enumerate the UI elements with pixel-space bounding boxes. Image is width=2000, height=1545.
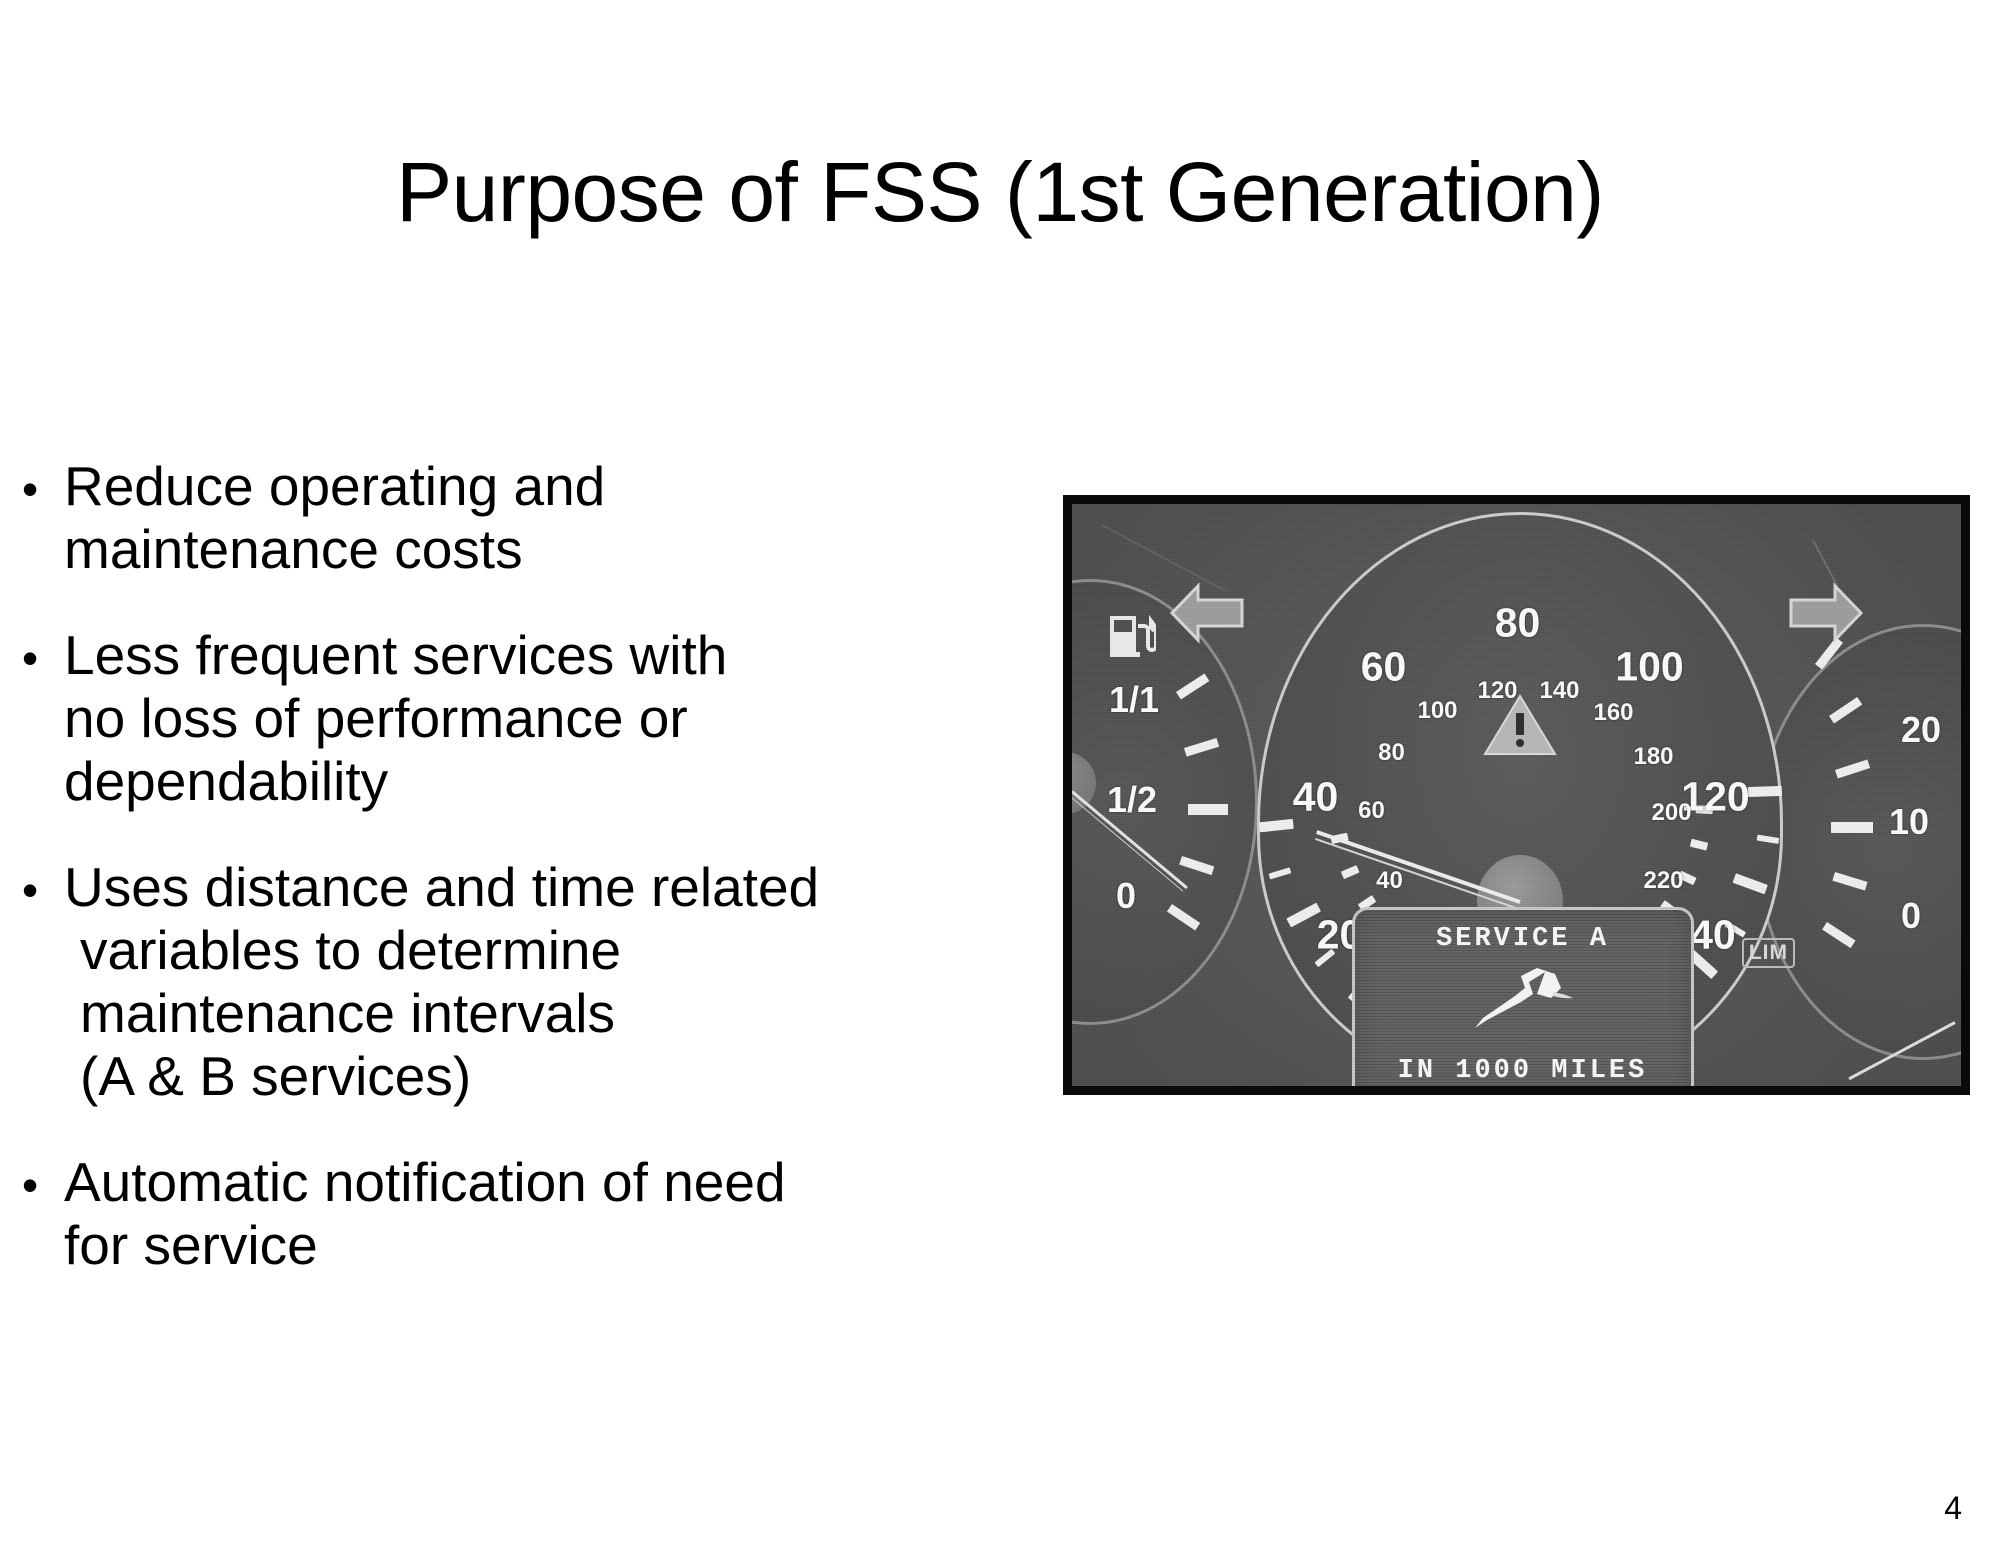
gauge-tick bbox=[1286, 903, 1321, 928]
bullet-line: Automatic notification of need bbox=[64, 1151, 786, 1213]
bullet-line: dependability bbox=[22, 750, 1042, 813]
tachometer-gauge bbox=[1755, 624, 1970, 1060]
gauge-tick bbox=[1747, 786, 1781, 797]
turn-signal-right-icon bbox=[1785, 580, 1865, 646]
fuel-label: 1/2 bbox=[1107, 779, 1157, 821]
fuel-label: 0 bbox=[1116, 875, 1136, 917]
service-display-line1: SERVICE A bbox=[1355, 924, 1691, 954]
bullet-list: •Reduce operating and maintenance costs … bbox=[22, 455, 1042, 1277]
bullet-line: maintenance costs bbox=[22, 518, 1042, 581]
page-number: 4 bbox=[1944, 1490, 1962, 1527]
speedometer: 20 40 60 80 100 120 140 160 40 60 80 100… bbox=[1257, 512, 1783, 1088]
tach-label: 0 bbox=[1901, 895, 1921, 937]
speed-label-kmh: 40 bbox=[1376, 867, 1403, 895]
speed-label-mph: 40 bbox=[1293, 774, 1339, 821]
photo-surface: 1/1 1/2 0 20 10 0 bbox=[1072, 504, 1961, 1086]
service-display-line2: IN 1000 MILES bbox=[1355, 1056, 1691, 1086]
speed-label-kmh: 180 bbox=[1633, 743, 1673, 771]
bullet-line: maintenance intervals bbox=[22, 982, 1042, 1045]
wrench-icon bbox=[1467, 968, 1579, 1034]
fuel-label: 1/1 bbox=[1109, 679, 1159, 721]
speed-label-kmh: 60 bbox=[1358, 797, 1385, 825]
gauge-tick bbox=[1340, 865, 1359, 879]
list-item: •Less frequent services with no loss of … bbox=[22, 624, 1042, 812]
gauge-tick bbox=[1188, 804, 1228, 815]
bullet-line: variables to determine bbox=[22, 919, 1042, 982]
speed-limiter-badge: LIM bbox=[1742, 938, 1795, 968]
bullet-marker: • bbox=[22, 1159, 64, 1211]
speed-label-mph: 80 bbox=[1495, 600, 1541, 647]
turn-signal-left-icon bbox=[1168, 580, 1248, 646]
gauge-tick bbox=[1258, 819, 1293, 832]
bullet-line: Uses distance and time related bbox=[64, 856, 819, 918]
speed-label-kmh: 80 bbox=[1378, 739, 1405, 767]
bullet-marker: • bbox=[22, 864, 64, 916]
instrument-cluster-photo: 1/1 1/2 0 20 10 0 bbox=[1063, 495, 1970, 1095]
speed-label-kmh: 160 bbox=[1593, 699, 1633, 727]
speed-label-kmh: 200 bbox=[1651, 799, 1691, 827]
page-title: Purpose of FSS (1st Generation) bbox=[0, 150, 2000, 234]
tach-label: 20 bbox=[1901, 709, 1941, 751]
bullet-line: (A & B services) bbox=[22, 1045, 1042, 1108]
speed-label-kmh: 220 bbox=[1643, 867, 1683, 895]
bullet-marker: • bbox=[22, 463, 64, 515]
gauge-tick bbox=[1756, 835, 1779, 844]
gauge-tick bbox=[1689, 839, 1707, 851]
speed-label-mph: 60 bbox=[1361, 644, 1407, 691]
warning-triangle-icon bbox=[1483, 693, 1557, 757]
bullet-marker: • bbox=[22, 632, 64, 684]
bullet-line: for service bbox=[22, 1214, 1042, 1277]
list-item: •Reduce operating and maintenance costs bbox=[22, 455, 1042, 580]
list-item: •Uses distance and time related variable… bbox=[22, 856, 1042, 1107]
gauge-tick bbox=[1732, 873, 1767, 894]
tach-label: 10 bbox=[1889, 801, 1929, 843]
gauge-tick bbox=[1268, 867, 1291, 879]
speed-label-kmh: 100 bbox=[1417, 697, 1457, 725]
bullet-line: no loss of performance or bbox=[22, 687, 1042, 750]
speed-label-mph: 120 bbox=[1681, 774, 1749, 821]
gauge-tick bbox=[1831, 822, 1873, 833]
fuel-pump-icon bbox=[1108, 608, 1156, 660]
service-display: SERVICE A IN 1000 MILES bbox=[1352, 907, 1694, 1095]
list-item: •Automatic notification of need for serv… bbox=[22, 1151, 1042, 1276]
bullet-line: Reduce operating and bbox=[64, 455, 605, 517]
bullet-line: Less frequent services with bbox=[64, 624, 727, 686]
speed-label-mph: 100 bbox=[1615, 644, 1683, 691]
